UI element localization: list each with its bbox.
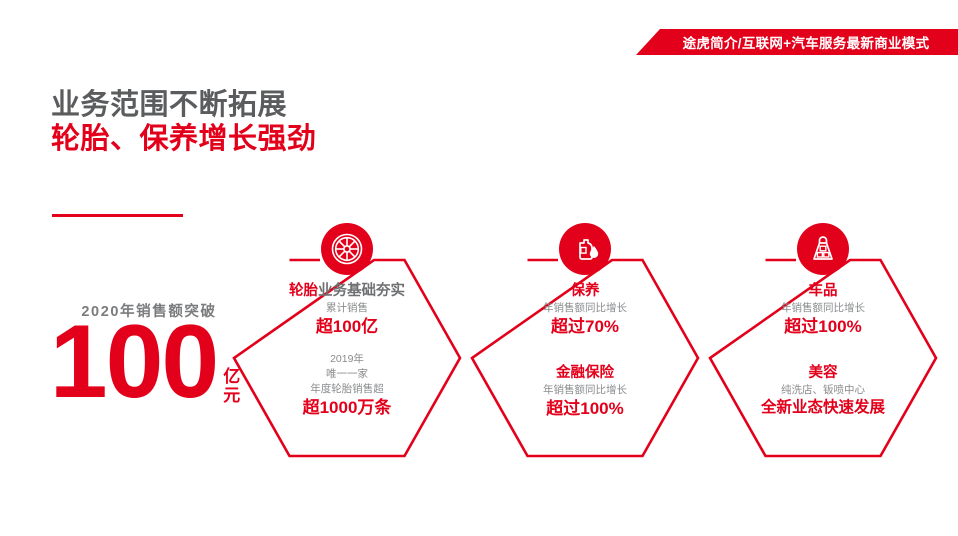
group-sub: 累计销售 [232, 301, 462, 316]
hexagon-card-tire[interactable]: 轮胎业务基础夯实 累计销售 超100亿 2019年 唯一一家 年度轮胎销售超 超… [232, 258, 462, 458]
hexagon-content: 车品 年销售额同比增长 超过100% 美容 纯洗店、钣喷中心 全新业态快速发展 [708, 258, 938, 458]
sales-stat-row: 100 亿 元 [40, 315, 250, 411]
hexagon-content: 保养 年销售额同比增长 超过70% 金融保险 年销售额同比增长 超过100% [470, 258, 700, 458]
hexagon-group: 美容 纯洗店、钣喷中心 全新业态快速发展 [708, 364, 938, 418]
header-banner: 途虎简介/互联网+汽车服务最新商业模式 [636, 29, 958, 55]
hexagon-group: 轮胎业务基础夯实 累计销售 超100亿 [232, 282, 462, 338]
group-sub: 年销售额同比增长 [708, 301, 938, 316]
group-sub: 年销售额同比增长 [470, 383, 700, 398]
hexagon-group: 保养 年销售额同比增长 超过70% [470, 282, 700, 338]
group-value: 全新业态快速发展 [708, 398, 938, 418]
sales-stat-block: 2020年销售额突破 100 亿 元 [40, 300, 250, 411]
hexagon-group: 车品 年销售额同比增长 超过100% [708, 282, 938, 338]
group-heading: 轮胎业务基础夯实 [232, 282, 462, 301]
group-value: 超过100% [470, 398, 700, 420]
group-heading: 车品 [708, 282, 938, 301]
group-value: 超过70% [470, 316, 700, 338]
shopping-bag-icon [797, 223, 849, 275]
title-divider [52, 214, 183, 217]
hexagon-group: 金融保险 年销售额同比增长 超过100% [470, 364, 700, 420]
header-banner-label: 途虎简介/互联网+汽车服务最新商业模式 [665, 32, 930, 52]
group-sub: 纯洗店、钣喷中心 [708, 383, 938, 398]
slide-canvas: 途虎简介/互联网+汽车服务最新商业模式 业务范围不断拓展 轮胎、保养增长强劲 2… [0, 0, 958, 536]
group-heading-muted: 业务基础夯实 [318, 283, 405, 299]
hexagon-card-car-products[interactable]: 车品 年销售额同比增长 超过100% 美容 纯洗店、钣喷中心 全新业态快速发展 [708, 258, 938, 458]
group-value: 超100亿 [232, 316, 462, 338]
page-title: 业务范围不断拓展 轮胎、保养增长强劲 [51, 88, 317, 156]
hexagon-group: 2019年 唯一一家 年度轮胎销售超 超1000万条 [232, 352, 462, 419]
hexagon-content: 轮胎业务基础夯实 累计销售 超100亿 2019年 唯一一家 年度轮胎销售超 超… [232, 258, 462, 458]
group-sub: 唯一一家 [232, 367, 462, 382]
group-value: 超过100% [708, 316, 938, 338]
group-heading: 美容 [708, 364, 938, 383]
page-title-line1: 业务范围不断拓展 [51, 88, 317, 122]
page-title-line2: 轮胎、保养增长强劲 [51, 122, 317, 156]
hexagon-card-maintenance[interactable]: 保养 年销售额同比增长 超过70% 金融保险 年销售额同比增长 超过100% [470, 258, 700, 458]
group-heading: 金融保险 [470, 364, 700, 383]
group-sub: 2019年 [232, 352, 462, 367]
sales-stat-number: 100 [50, 315, 218, 411]
oil-bottle-icon [559, 223, 611, 275]
group-value: 超1000万条 [232, 397, 462, 419]
group-heading-accent: 轮胎 [289, 283, 318, 299]
group-sub: 年销售额同比增长 [470, 301, 700, 316]
group-sub: 年度轮胎销售超 [232, 382, 462, 397]
tire-icon [321, 223, 373, 275]
group-heading: 保养 [470, 282, 700, 301]
